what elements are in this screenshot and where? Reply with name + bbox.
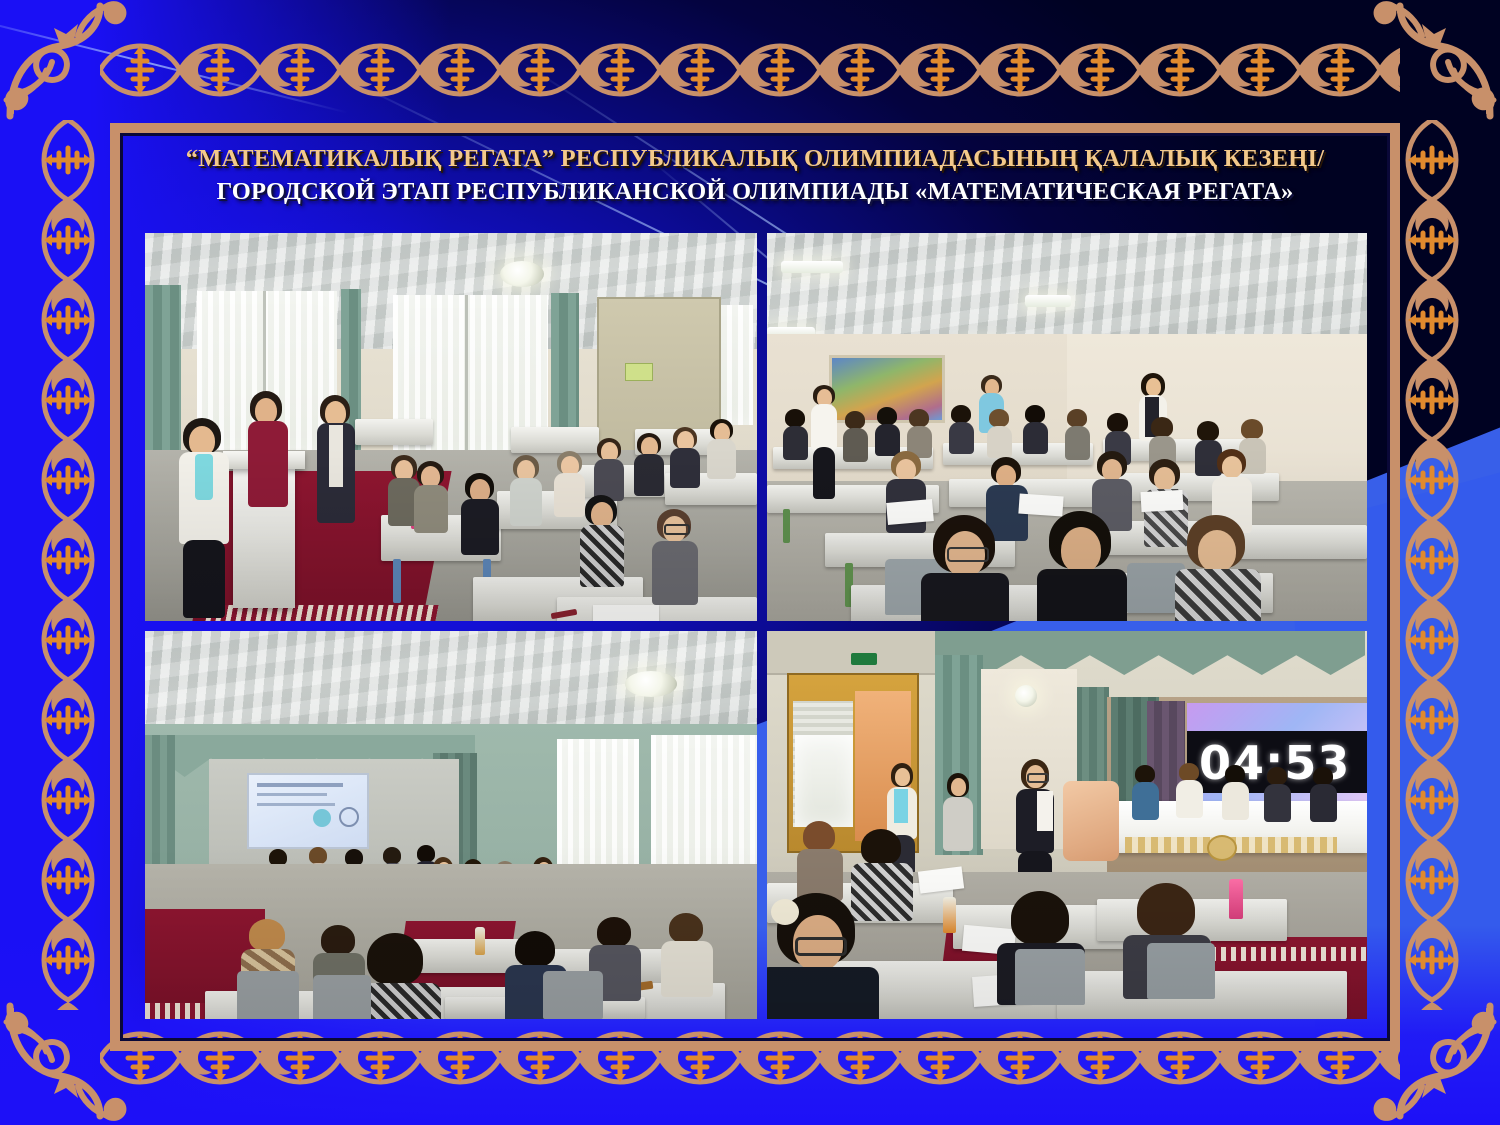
kazakh-ornament-corner [0,0,130,126]
photo-jury-hall [145,631,757,1019]
presentation-slide: “МАТЕМАТИКАЛЫҚ РЕГАТА” РЕСПУБЛИКАЛЫҚ ОЛИ… [0,0,1500,1125]
photo-participants-writing [767,233,1367,621]
photo-grid: 04:53 [145,233,1367,1019]
photo-countdown-timer: 04:53 [767,631,1367,1019]
title-line-kazakh: “МАТЕМАТИКАЛЫҚ РЕГАТА” РЕСПУБЛИКАЛЫҚ ОЛИ… [120,142,1390,175]
title-line-russian: ГОРОДСКОЙ ЭТАП РЕСПУБЛИКАНСКОЙ ОЛИМПИАДЫ… [120,175,1390,208]
slide-title: “МАТЕМАТИКАЛЫҚ РЕГАТА” РЕСПУБЛИКАЛЫҚ ОЛИ… [120,142,1390,209]
photo-opening-ceremony [145,233,757,621]
kazakh-ornament-corner [1370,0,1500,126]
